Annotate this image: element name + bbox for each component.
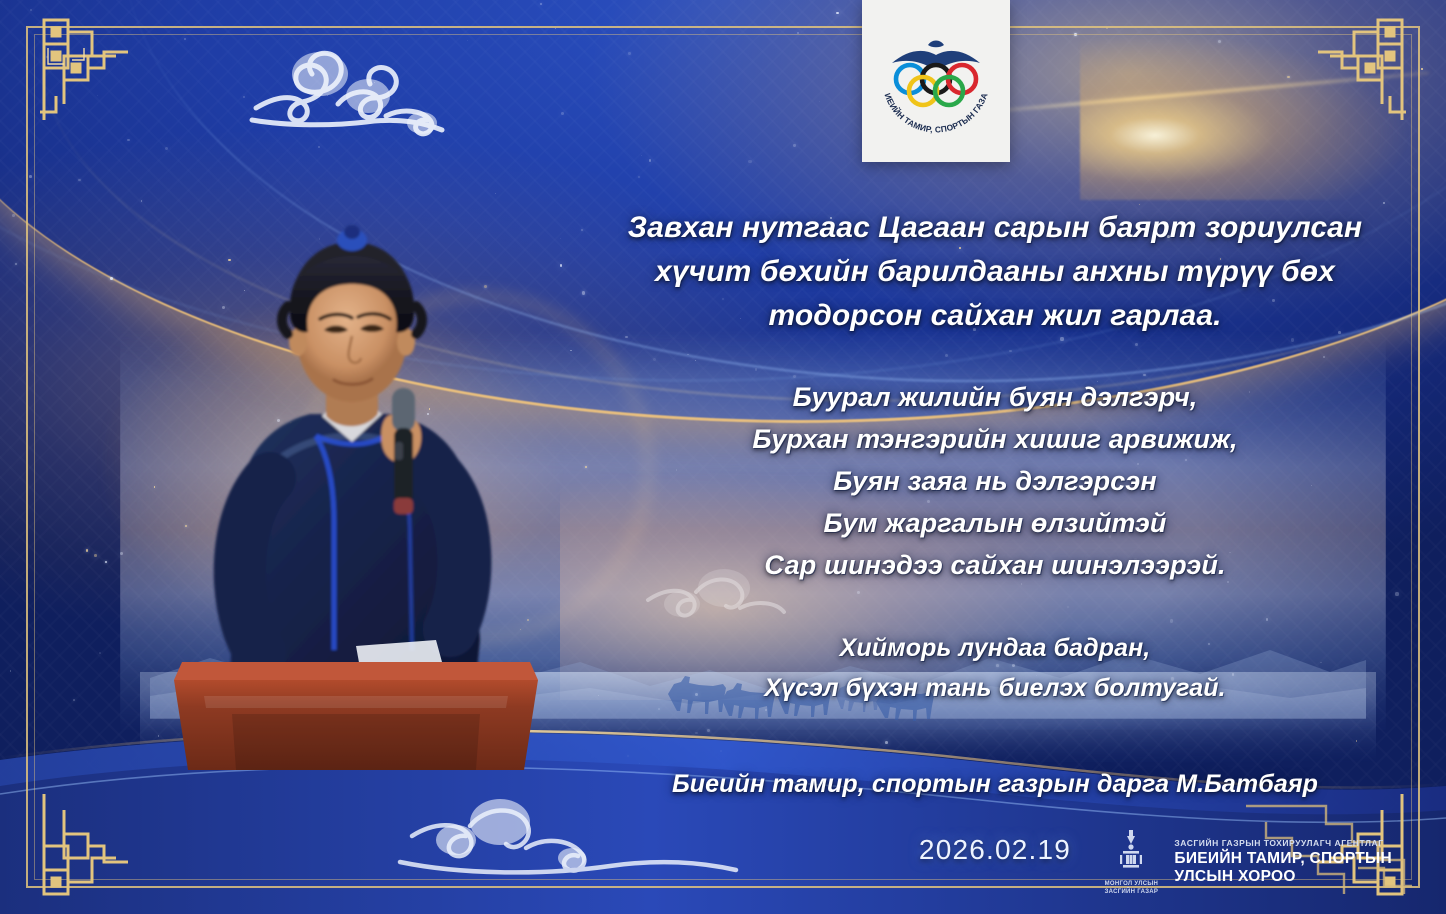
agency-name-line2: УЛСЫН ХОРОО [1174,868,1392,886]
headline: Завхан нутгаас Цагаан сарын баярт зориул… [600,206,1390,338]
headline-line: тодорсон сайхан жил гарлаа. [600,294,1390,338]
soyombo-icon [1109,828,1153,872]
cloud-swirl-top-left [246,30,456,150]
verse-line: Бурхан тэнгэрийн хишиг арвижиж, [600,418,1390,460]
government-emblem: МОНГОЛ УЛСЫН ЗАСГИЙН ГАЗАР [1100,828,1162,896]
verse-line: Хийморь лундаа бадран, [600,628,1390,668]
podium [174,662,538,770]
message-block: Завхан нутгаас Цагаан сарын баярт зориул… [600,206,1390,866]
agency-kicker: ЗАСГИЙН ГАЗРЫН ТОХИРУУЛАГЧ АГЕНТЛАГ [1174,838,1392,848]
verse-line: Буурал жилийн буян дэлгэрч, [600,376,1390,418]
emblem-caption: МОНГОЛ УЛСЫН ЗАСГИЙН ГАЗАР [1100,880,1162,896]
verse-one: Буурал жилийн буян дэлгэрч, Бурхан тэнгэ… [600,376,1390,586]
logo-curved-text: БИЕИЙН ТАМИР, СПОРТЫН ГАЗАР [870,15,990,135]
signature-line: Биеийн тамир, спортын газрын дарга М.Бат… [600,766,1390,802]
organisation-logo-card: БИЕИЙН ТАМИР, СПОРТЫН ГАЗАР [862,0,1010,162]
microphone [392,388,415,514]
agency-lockup: МОНГОЛ УЛСЫН ЗАСГИЙН ГАЗАР ЗАСГИЙН ГАЗРЫ… [1100,828,1392,896]
verse-line: Сар шинэдээ сайхан шинэлээрэй. [600,544,1390,586]
headline-line: Завхан нутгаас Цагаан сарын баярт зориул… [600,206,1390,250]
verse-line: Буян заяа нь дэлгэрсэн [600,460,1390,502]
sunburst-glow [1080,30,1420,200]
verse-two: Хийморь лундаа бадран, Хүсэл бүхэн тань … [600,628,1390,708]
speaker-photo [120,210,590,770]
emblem-caption-line2: ЗАСГИЙН ГАЗАР [1100,888,1162,896]
olympic-rings-logo: БИЕИЙН ТАМИР, СПОРТЫН ГАЗАР [870,15,1002,147]
verse-line: Хүсэл бүхэн тань биелэх болтугай. [600,668,1390,708]
headline-line: хүчит бөхийн барилдааны анхны түрүү бөх [600,250,1390,294]
emblem-caption-line1: МОНГОЛ УЛСЫН [1100,880,1162,888]
agency-name-line1: БИЕИЙН ТАМИР, СПОРТЫН [1174,850,1392,868]
greeting-poster: БИЕИЙН ТАМИР, СПОРТЫН ГАЗАР [0,0,1446,914]
verse-line: Бум жаргалын өлзийтэй [600,502,1390,544]
agency-text-block: ЗАСГИЙН ГАЗРЫН ТОХИРУУЛАГЧ АГЕНТЛАГ БИЕИ… [1174,838,1392,886]
